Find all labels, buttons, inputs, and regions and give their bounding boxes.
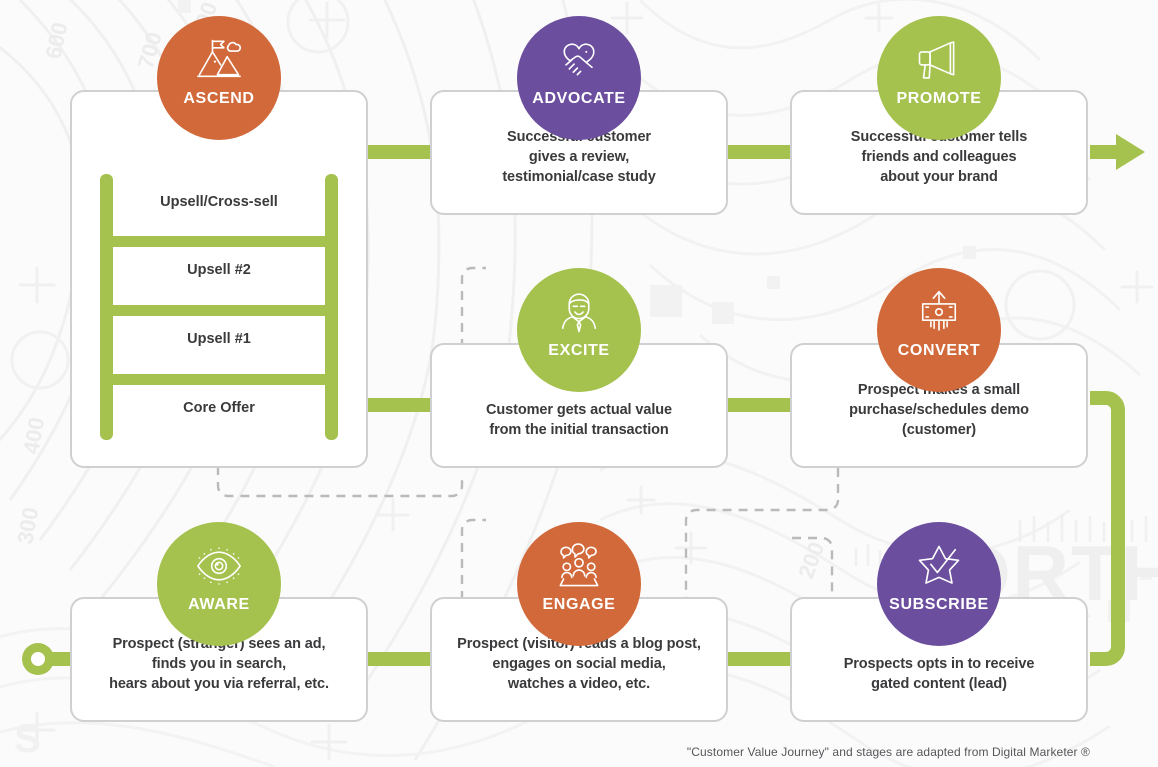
stage-node-advocate[interactable]: ADVOCATE bbox=[517, 16, 641, 140]
ladder-step-core-offer: Core Offer bbox=[113, 400, 325, 416]
journey-exit-arrow bbox=[1090, 134, 1145, 170]
link-ascend-advocate bbox=[364, 145, 432, 159]
dashed-link-subscribe-up bbox=[792, 538, 832, 600]
ladder-rung bbox=[106, 236, 332, 247]
card-line: gives a review, bbox=[446, 147, 712, 167]
eye-icon bbox=[193, 540, 245, 592]
stage-label-advocate: ADVOCATE bbox=[532, 90, 625, 108]
ladder-rung bbox=[106, 374, 332, 385]
ascend-value-ladder: Upsell/Cross-sell Upsell #2 Upsell #1 Co… bbox=[100, 174, 338, 440]
stage-label-convert: CONVERT bbox=[898, 342, 980, 360]
card-line: from the initial transaction bbox=[446, 420, 712, 440]
dashed-link-convert-engage bbox=[686, 468, 838, 600]
card-line: Prospects opts in to receive bbox=[806, 654, 1072, 674]
stage-node-excite[interactable]: EXCITE bbox=[517, 268, 641, 392]
card-subscribe-text: Prospects opts in to receive gated conte… bbox=[792, 654, 1086, 720]
stage-node-convert[interactable]: CONVERT bbox=[877, 268, 1001, 392]
people-speech-bubbles-icon bbox=[553, 540, 605, 592]
star-check-icon bbox=[913, 540, 965, 592]
card-line: gated content (lead) bbox=[806, 674, 1072, 694]
link-excite-convert bbox=[724, 398, 792, 412]
mountain-flag-icon bbox=[193, 34, 245, 86]
handshake-heart-icon bbox=[553, 34, 605, 86]
link-engage-subscribe bbox=[724, 652, 792, 666]
megaphone-icon bbox=[913, 34, 965, 86]
stage-label-aware: AWARE bbox=[188, 596, 250, 614]
attribution-note: "Customer Value Journey" and stages are … bbox=[687, 745, 1090, 759]
stage-node-aware[interactable]: AWARE bbox=[157, 522, 281, 646]
card-line: about your brand bbox=[806, 167, 1072, 187]
card-line: watches a video, etc. bbox=[446, 674, 712, 694]
stage-label-engage: ENGAGE bbox=[543, 596, 616, 614]
card-line: finds you in search, bbox=[86, 654, 352, 674]
card-aware-text: Prospect (stranger) sees an ad, finds yo… bbox=[72, 634, 366, 720]
stage-node-engage[interactable]: ENGAGE bbox=[517, 522, 641, 646]
link-aware-engage bbox=[364, 652, 432, 666]
link-subscribe-convert bbox=[1090, 398, 1118, 659]
ladder-step-upsell-1: Upsell #1 bbox=[113, 331, 325, 347]
stage-node-promote[interactable]: PROMOTE bbox=[877, 16, 1001, 140]
card-line: friends and colleagues bbox=[806, 147, 1072, 167]
link-advocate-promote bbox=[724, 145, 792, 159]
dashed-link-excite-advocate bbox=[462, 268, 486, 348]
dashed-link-ascend-excite bbox=[218, 466, 462, 496]
card-line: engages on social media, bbox=[446, 654, 712, 674]
card-line: Customer gets actual value bbox=[446, 400, 712, 420]
card-excite-text: Customer gets actual value from the init… bbox=[432, 400, 726, 466]
money-up-arrow-icon bbox=[913, 286, 965, 338]
dashed-link-engage-excite bbox=[462, 520, 486, 600]
stage-label-subscribe: SUBSCRIBE bbox=[889, 596, 989, 614]
stage-node-subscribe[interactable]: SUBSCRIBE bbox=[877, 522, 1001, 646]
ladder-rung bbox=[106, 305, 332, 316]
card-convert-text: Prospect makes a small purchase/schedule… bbox=[792, 380, 1086, 466]
stage-label-excite: EXCITE bbox=[548, 342, 609, 360]
card-line: hears about you via referral, etc. bbox=[86, 674, 352, 694]
ladder-step-upsell-2: Upsell #2 bbox=[113, 262, 325, 278]
stage-label-promote: PROMOTE bbox=[896, 90, 981, 108]
card-line: purchase/schedules demo bbox=[806, 400, 1072, 420]
card-engage-text: Prospect (visitor) reads a blog post, en… bbox=[432, 634, 726, 720]
happy-customer-icon bbox=[553, 286, 605, 338]
customer-value-journey-diagram: 600 600 700 400 300 200 ORTH S bbox=[0, 0, 1158, 767]
card-line: testimonial/case study bbox=[446, 167, 712, 187]
link-ascend-excite bbox=[364, 398, 432, 412]
stage-node-ascend[interactable]: ASCEND bbox=[157, 16, 281, 140]
card-line: (customer) bbox=[806, 420, 1072, 440]
ladder-step-upsell-crosssell: Upsell/Cross-sell bbox=[113, 194, 325, 210]
stage-label-ascend: ASCEND bbox=[183, 90, 254, 108]
